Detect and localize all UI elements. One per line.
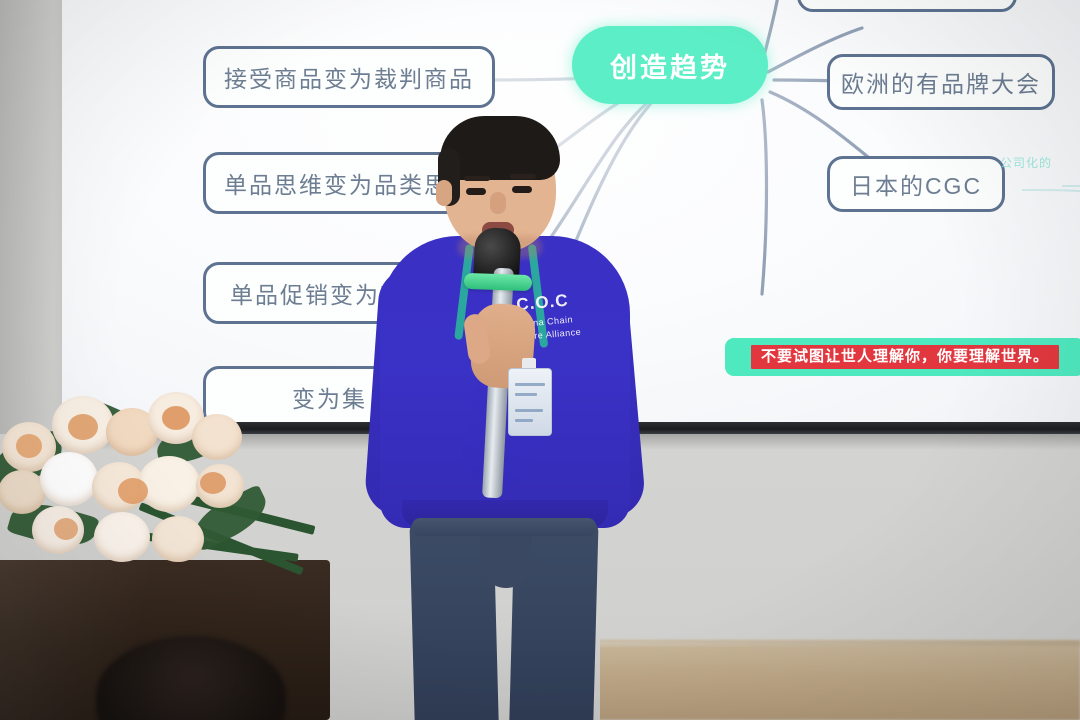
bloom-13: [152, 516, 204, 562]
mindmap-node-right-1[interactable]: [797, 0, 1017, 12]
microphone-green-ring: [464, 273, 533, 291]
quote-text: 不要试图让世人理解你，你要理解世界。: [751, 345, 1059, 369]
presenter-legs: [408, 518, 604, 720]
bloom-accent-5: [200, 472, 226, 494]
mindmap-node-right-3-label: 日本的CGC: [850, 167, 982, 201]
presenter: C.O.C China Chain Store Alliance: [372, 118, 644, 720]
mindmap-node-right-2-label: 欧洲的有品牌大会: [841, 65, 1041, 99]
badge-line-2: [515, 393, 537, 396]
bloom-accent-3: [162, 406, 190, 430]
bloom-accent-4: [118, 478, 148, 504]
quote-band: 不要试图让世人理解你，你要理解世界。: [725, 338, 1080, 376]
mindmap-node-right-3[interactable]: 日本的CGC: [827, 156, 1005, 212]
mindmap-center-node[interactable]: 创造趋势: [572, 26, 768, 104]
presenter-brow-right: [510, 174, 536, 179]
presenter-brow-left: [464, 176, 490, 181]
bloom-accent-2: [16, 434, 42, 458]
presenter-eye-left: [466, 188, 486, 195]
mindmap-center-node-label: 创造趋势: [610, 46, 730, 85]
mindmap-node-left-1[interactable]: 接受商品变为裁判商品: [203, 46, 495, 108]
faint-sublabel: 公司化的: [1000, 154, 1052, 171]
bloom-9: [138, 456, 200, 512]
flower-arrangement: [0, 330, 310, 580]
bloom-accent-6: [54, 518, 78, 540]
bloom-accent-1: [68, 414, 98, 440]
name-badge: [508, 368, 552, 436]
mindmap-node-left-1-label: 接受商品变为裁判商品: [224, 60, 474, 94]
bloom-12: [94, 512, 150, 562]
mindmap-node-right-2[interactable]: 欧洲的有品牌大会: [827, 54, 1055, 110]
badge-line-1: [515, 383, 545, 386]
badge-line-3: [515, 409, 543, 412]
screenshot-stage: 接受商品变为裁判商品 单品思维变为品类思维 单品促销变为商品 变为集 欧洲的有品…: [0, 0, 1080, 720]
presenter-waistband: [412, 518, 596, 536]
bloom-5: [192, 414, 242, 460]
bloom-7: [40, 452, 98, 506]
presenter-ear: [436, 180, 452, 206]
presenter-eye-right: [512, 186, 532, 193]
presenter-nose: [490, 192, 506, 214]
badge-line-4: [515, 419, 533, 422]
